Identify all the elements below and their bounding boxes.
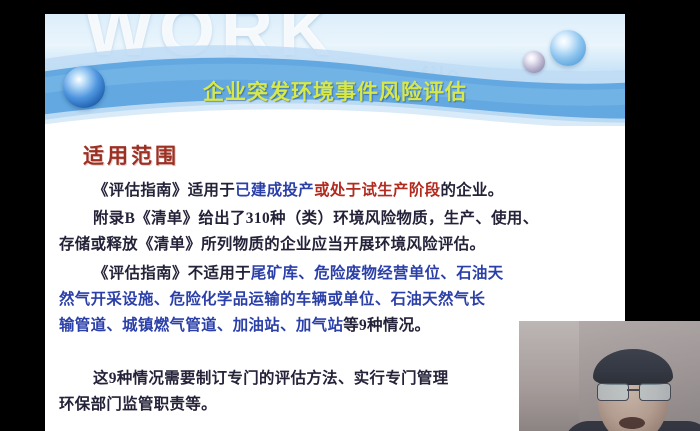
glasses-lens-right [639,383,671,401]
glasses-lens-left [597,383,629,401]
paragraph-2: 附录B《清单》给出了310种（类）环境风险物质，生产、使用、存储或释放《清单》所… [59,206,619,258]
text-run: 输管道、城镇燃气管道、加油站、加气站 [59,317,343,334]
screen-root: WORK Job Profile 企业突发环境事件风险评估 适用范围 《评估指南… [0,0,700,431]
text-run: 这9种情况需要制订专门的评估方法、实行专门管理 [93,370,449,387]
text-run: 环保部门监管职责等。 [59,396,217,413]
text-run: 尾矿库、危险废物经营单位、石油天 [251,265,504,282]
text-line: 附录B《清单》给出了310种（类）环境风险物质，生产、使用、 [59,206,619,232]
text-line: 《评估指南》适用于已建成投产或处于试生产阶段的企业。 [59,178,619,204]
text-line: 《评估指南》不适用于尾矿库、危险废物经营单位、石油天 [59,261,619,287]
text-run: 等9种情况。 [343,317,430,334]
text-run: 《评估指南》不适用于 [93,265,251,282]
decorative-sphere-small-icon [523,51,545,73]
slide-title: 企业突发环境事件风险评估 [45,76,625,106]
text-run: 已建成投产 [235,182,314,199]
section-heading: 适用范围 [83,140,179,170]
text-run: 附录B《清单》给出了310种（类）环境风险物质，生产、使用、 [93,210,539,227]
text-run: 的企业。 [440,182,503,199]
glasses-bridge [627,389,639,391]
presenter-video-feed[interactable] [519,321,700,431]
text-run: 《评估指南》适用于 [93,182,235,199]
webcam-wall [519,321,579,431]
webcam-person-mouth [619,417,645,429]
text-line: 存储或释放《清单》所列物质的企业应当开展环境风险评估。 [59,232,619,258]
glasses-icon [595,383,673,399]
text-run: 处于试生产阶段 [330,182,441,199]
slide-header-banner: WORK Job Profile 企业突发环境事件风险评估 [45,14,625,126]
text-run: 或 [314,182,330,199]
text-line: 然气开采设施、危险化学品运输的车辆或单位、石油天然气长 [59,287,619,313]
text-run: 然气开采设施、危险化学品运输的车辆或单位、石油天然气长 [59,291,485,308]
decorative-sphere-right-icon [550,30,586,66]
text-run: 存储或释放《清单》所列物质的企业应当开展环境风险评估。 [59,236,485,253]
paragraph-1: 《评估指南》适用于已建成投产或处于试生产阶段的企业。 [59,178,619,204]
